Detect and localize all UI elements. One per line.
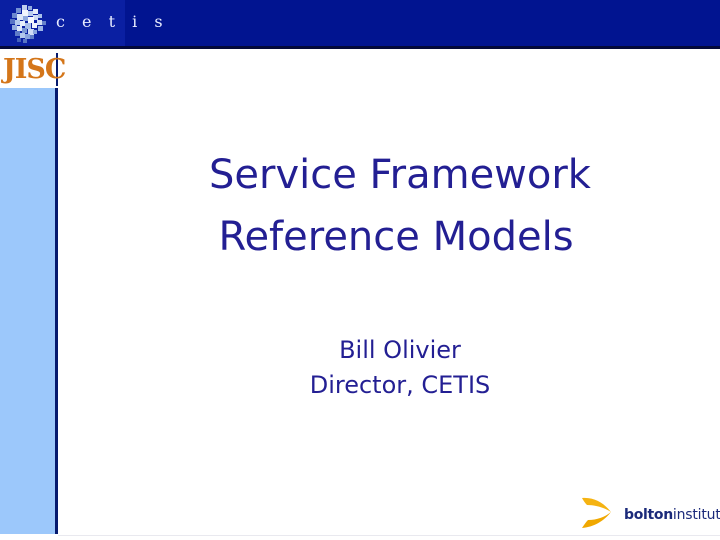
pixel-globe-icon [8,4,50,44]
cetis-wordmark: c e t i s [56,11,169,33]
bottom-divider [58,535,720,536]
jisc-wordmark: JISC [3,54,65,85]
presenter-name: Bill Olivier [130,333,670,368]
bolton-institute-wordmark: boltoninstitute [624,506,720,524]
page-title: Service Framework Reference Models [130,144,670,268]
presentation-slide: c e t i s JISC Service Framework Referen… [0,0,720,540]
title-line-1: Service Framework [130,144,670,206]
bolton-name-bold: bolton [624,507,673,523]
bolton-institute-logo: boltoninstitute [580,492,710,534]
bolton-swoosh-icon [580,492,622,534]
title-line-2: Reference Models [122,206,670,268]
header-underline-divider [0,46,720,49]
jisc-logo-box: JISC [0,53,58,86]
bolton-name-light: institute [673,507,720,523]
presenter-role: Director, CETIS [130,368,670,403]
left-sidebar-band [0,88,58,534]
header-band: c e t i s [0,0,720,46]
subtitle-block: Bill Olivier Director, CETIS [130,333,670,403]
